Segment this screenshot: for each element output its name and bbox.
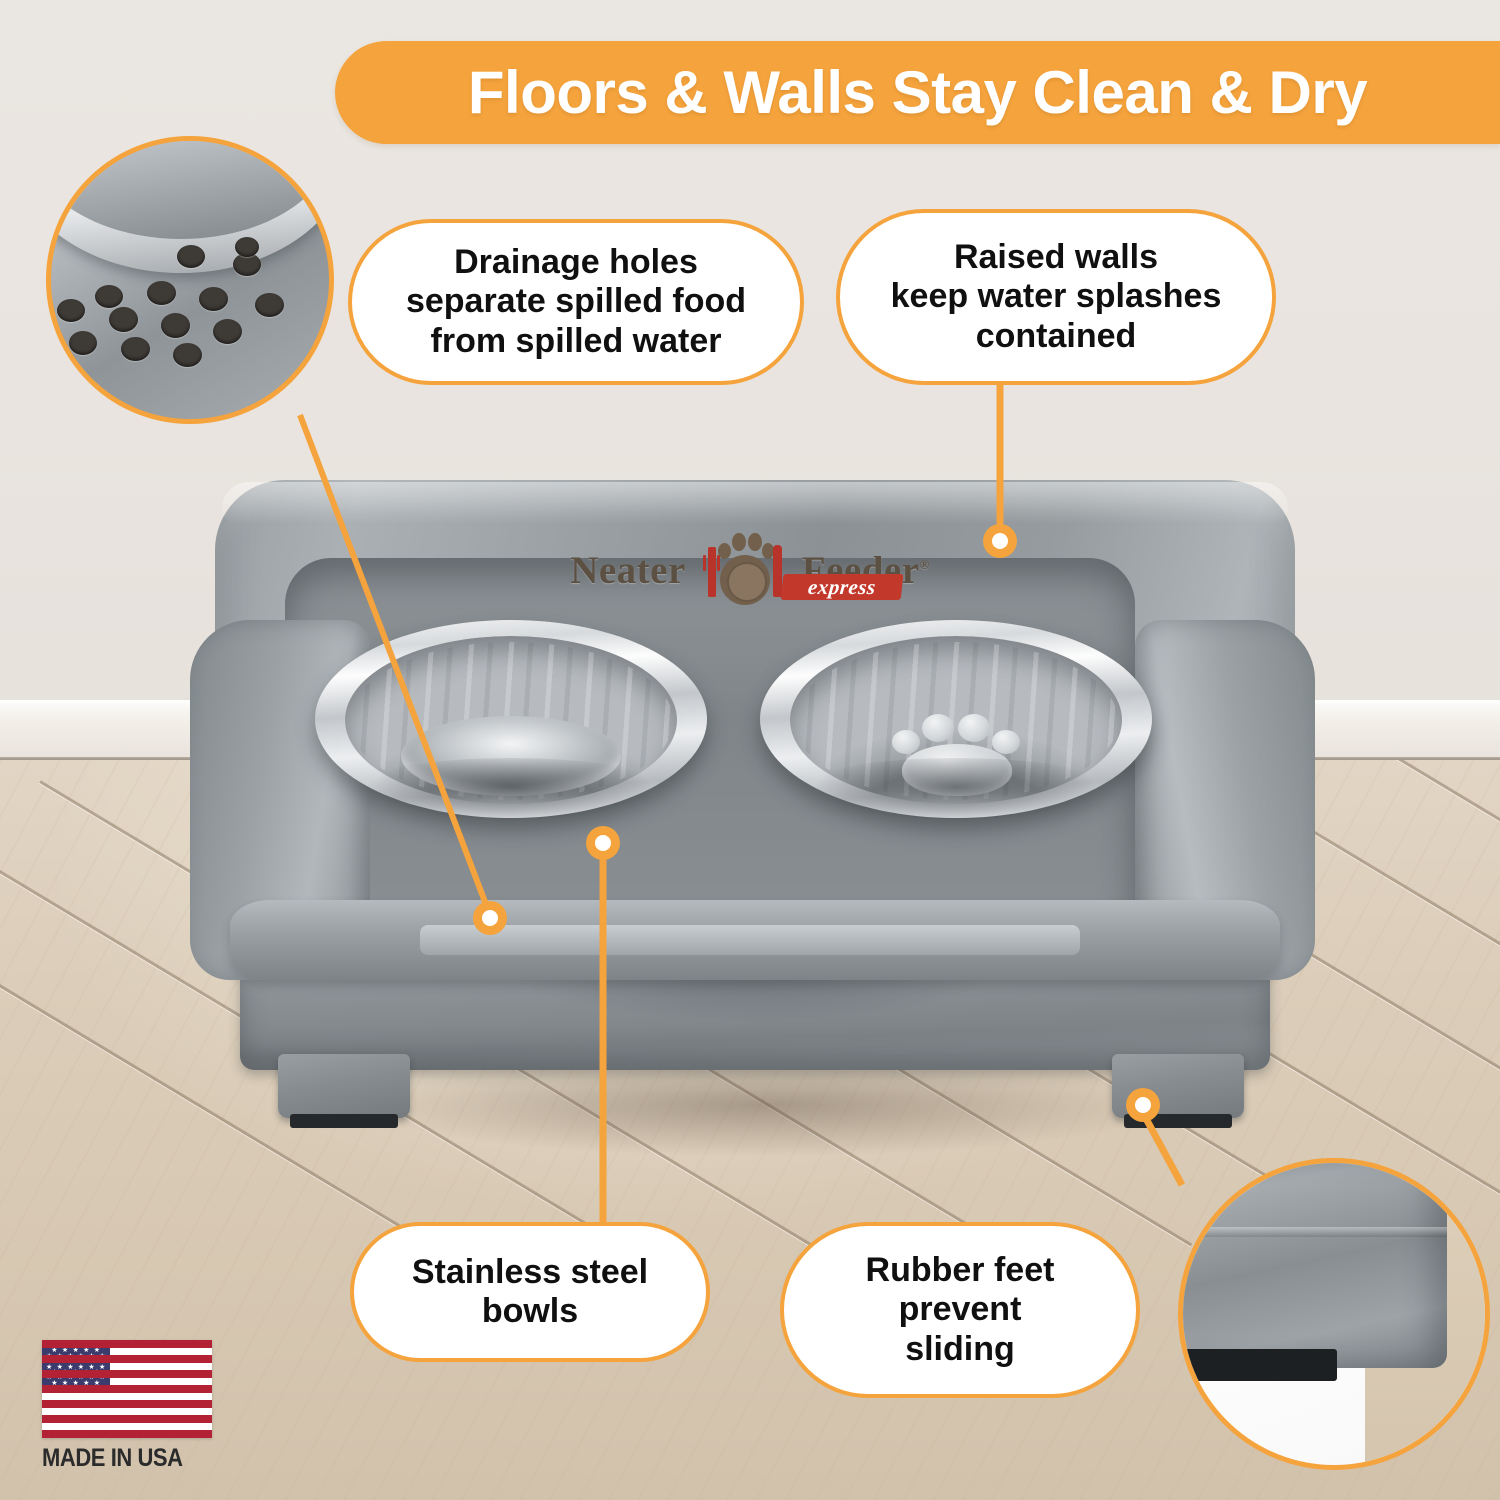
- made-in-usa-label: MADE IN USA: [42, 1444, 200, 1473]
- callout-drainage: Drainage holes separate spilled food fro…: [348, 219, 804, 385]
- flag-star: ★: [88, 1365, 93, 1370]
- sub-brand-banner: express: [781, 574, 904, 600]
- drainage-holes-closeup: [46, 136, 334, 424]
- sub-brand-label: express: [781, 574, 904, 600]
- closeup-feeder-leg: [1178, 1158, 1447, 1368]
- fork-icon: [708, 547, 716, 597]
- callout-stainless-bowls: Stainless steel bowls: [350, 1222, 710, 1362]
- pet-feeder-product: Neater Feeder® express: [170, 470, 1335, 1120]
- stainless-bowl-right: [760, 620, 1152, 855]
- rubber-foot-right: [1124, 1114, 1232, 1128]
- made-in-usa-badge: ★★★★★★★★★★★★★★★★★★★★★★★★★★★★★★★★★★★★★★★★…: [42, 1340, 222, 1470]
- rubber-foot-closeup: [1178, 1158, 1490, 1470]
- feeder-base-shading: [400, 964, 1100, 1084]
- callout-drainage-text: Drainage holes separate spilled food fro…: [388, 243, 764, 360]
- feeder-leg-right: [1112, 1054, 1244, 1118]
- callout-raised-walls: Raised walls keep water splashes contain…: [836, 209, 1276, 385]
- flag-stripe: [42, 1340, 212, 1348]
- callout-rubber-feet: Rubber feet prevent sliding: [780, 1222, 1140, 1398]
- flag-stripe: [42, 1400, 212, 1408]
- product-infographic: Neater Feeder® express: [0, 0, 1500, 1500]
- flag-stripe: [42, 1385, 212, 1393]
- usa-flag-icon: ★★★★★★★★★★★★★★★★★★★★★★★★★★★★★★★★★★★★★★★★…: [42, 1340, 212, 1438]
- closeup-rubber-pad: [1178, 1349, 1337, 1381]
- brand-logo: Neater Feeder® express: [550, 530, 950, 610]
- stainless-bowl-left: [315, 620, 707, 855]
- callout-bowls-text: Stainless steel bowls: [394, 1253, 666, 1331]
- callout-walls-text: Raised walls keep water splashes contain…: [873, 238, 1240, 355]
- bowl-drop-shadow: [760, 758, 1152, 854]
- flag-star: ★: [73, 1348, 78, 1353]
- flag-star: ★: [46, 1365, 51, 1370]
- flag-stripe: [42, 1370, 212, 1378]
- feeder-leg-left: [278, 1054, 410, 1118]
- flag-star: ★: [51, 1348, 56, 1353]
- flag-stripe: [42, 1415, 212, 1423]
- bowl-drop-shadow: [315, 758, 707, 854]
- paw-icon: [718, 533, 772, 607]
- feeder-lip-edge: [420, 925, 1080, 955]
- flag-stripe: [42, 1430, 212, 1438]
- logo-word-neater: Neater: [570, 548, 686, 593]
- flag-stripe: [42, 1355, 212, 1363]
- headline-banner: Floors & Walls Stay Clean & Dry: [335, 41, 1500, 144]
- knife-icon: [773, 545, 782, 597]
- registered-mark: ®: [920, 557, 930, 572]
- headline-text: Floors & Walls Stay Clean & Dry: [468, 58, 1367, 127]
- feeder-rim-highlight: [222, 482, 1288, 524]
- callout-rubber-text: Rubber feet prevent sliding: [848, 1251, 1073, 1368]
- rubber-foot-left: [290, 1114, 398, 1128]
